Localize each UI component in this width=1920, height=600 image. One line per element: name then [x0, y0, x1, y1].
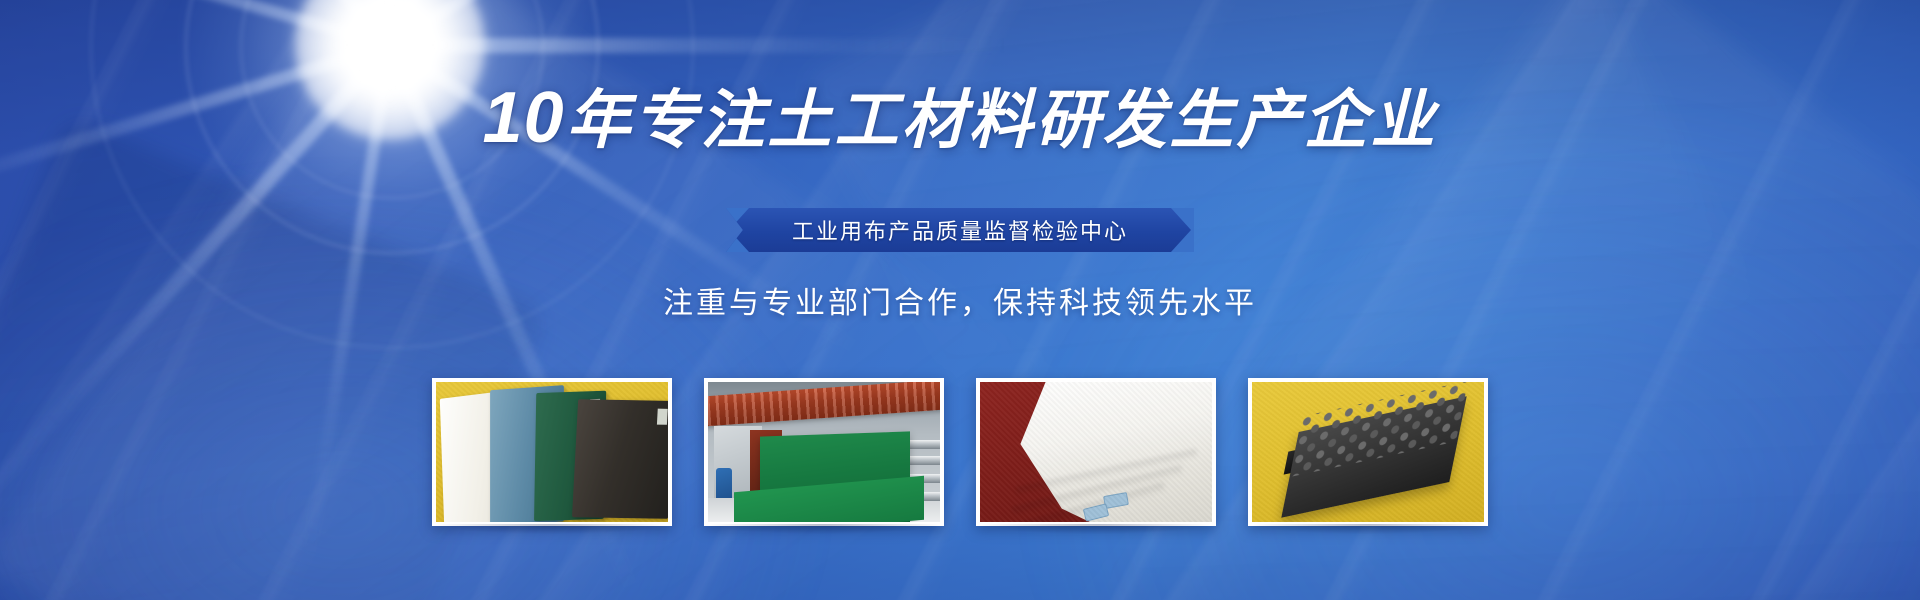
- photo-image: [436, 382, 668, 522]
- photo-texture: [980, 382, 1212, 522]
- banner-content: 10年专注土工材料研发生产企业 工业用布产品质量监督检验中心 注重与专业部门合作…: [0, 0, 1920, 600]
- photo-image: [980, 382, 1212, 522]
- ribbon-label: 工业用布产品质量监督检验中心: [792, 214, 1128, 246]
- product-photo-geotextile[interactable]: [976, 378, 1216, 526]
- ribbon-container: 工业用布产品质量监督检验中心: [0, 208, 1920, 252]
- promo-banner: 10年专注土工材料研发生产企业 工业用布产品质量监督检验中心 注重与专业部门合作…: [0, 0, 1920, 600]
- product-photo-geomembrane-sheets[interactable]: [432, 378, 672, 526]
- photo-image: [708, 382, 940, 522]
- headline-text: 年专注土工材料研发生产企业: [567, 84, 1438, 156]
- sheet-tag: [657, 409, 668, 425]
- photo-image: [1252, 382, 1484, 522]
- product-photo-drainage-board[interactable]: [1248, 378, 1488, 526]
- headline-years-number: 10: [482, 78, 564, 158]
- product-photo-production-line[interactable]: [704, 378, 944, 526]
- sheet-black: [572, 399, 668, 519]
- subtitle: 注重与专业部门合作，保持科技领先水平: [0, 278, 1920, 322]
- product-photo-strip: [0, 378, 1920, 526]
- headline: 10年专注土工材料研发生产企业: [0, 82, 1920, 154]
- chevron-left-icon: [725, 208, 749, 252]
- certification-ribbon: 工业用布产品质量监督检验中心: [726, 208, 1194, 252]
- chevron-right-icon: [1171, 208, 1195, 252]
